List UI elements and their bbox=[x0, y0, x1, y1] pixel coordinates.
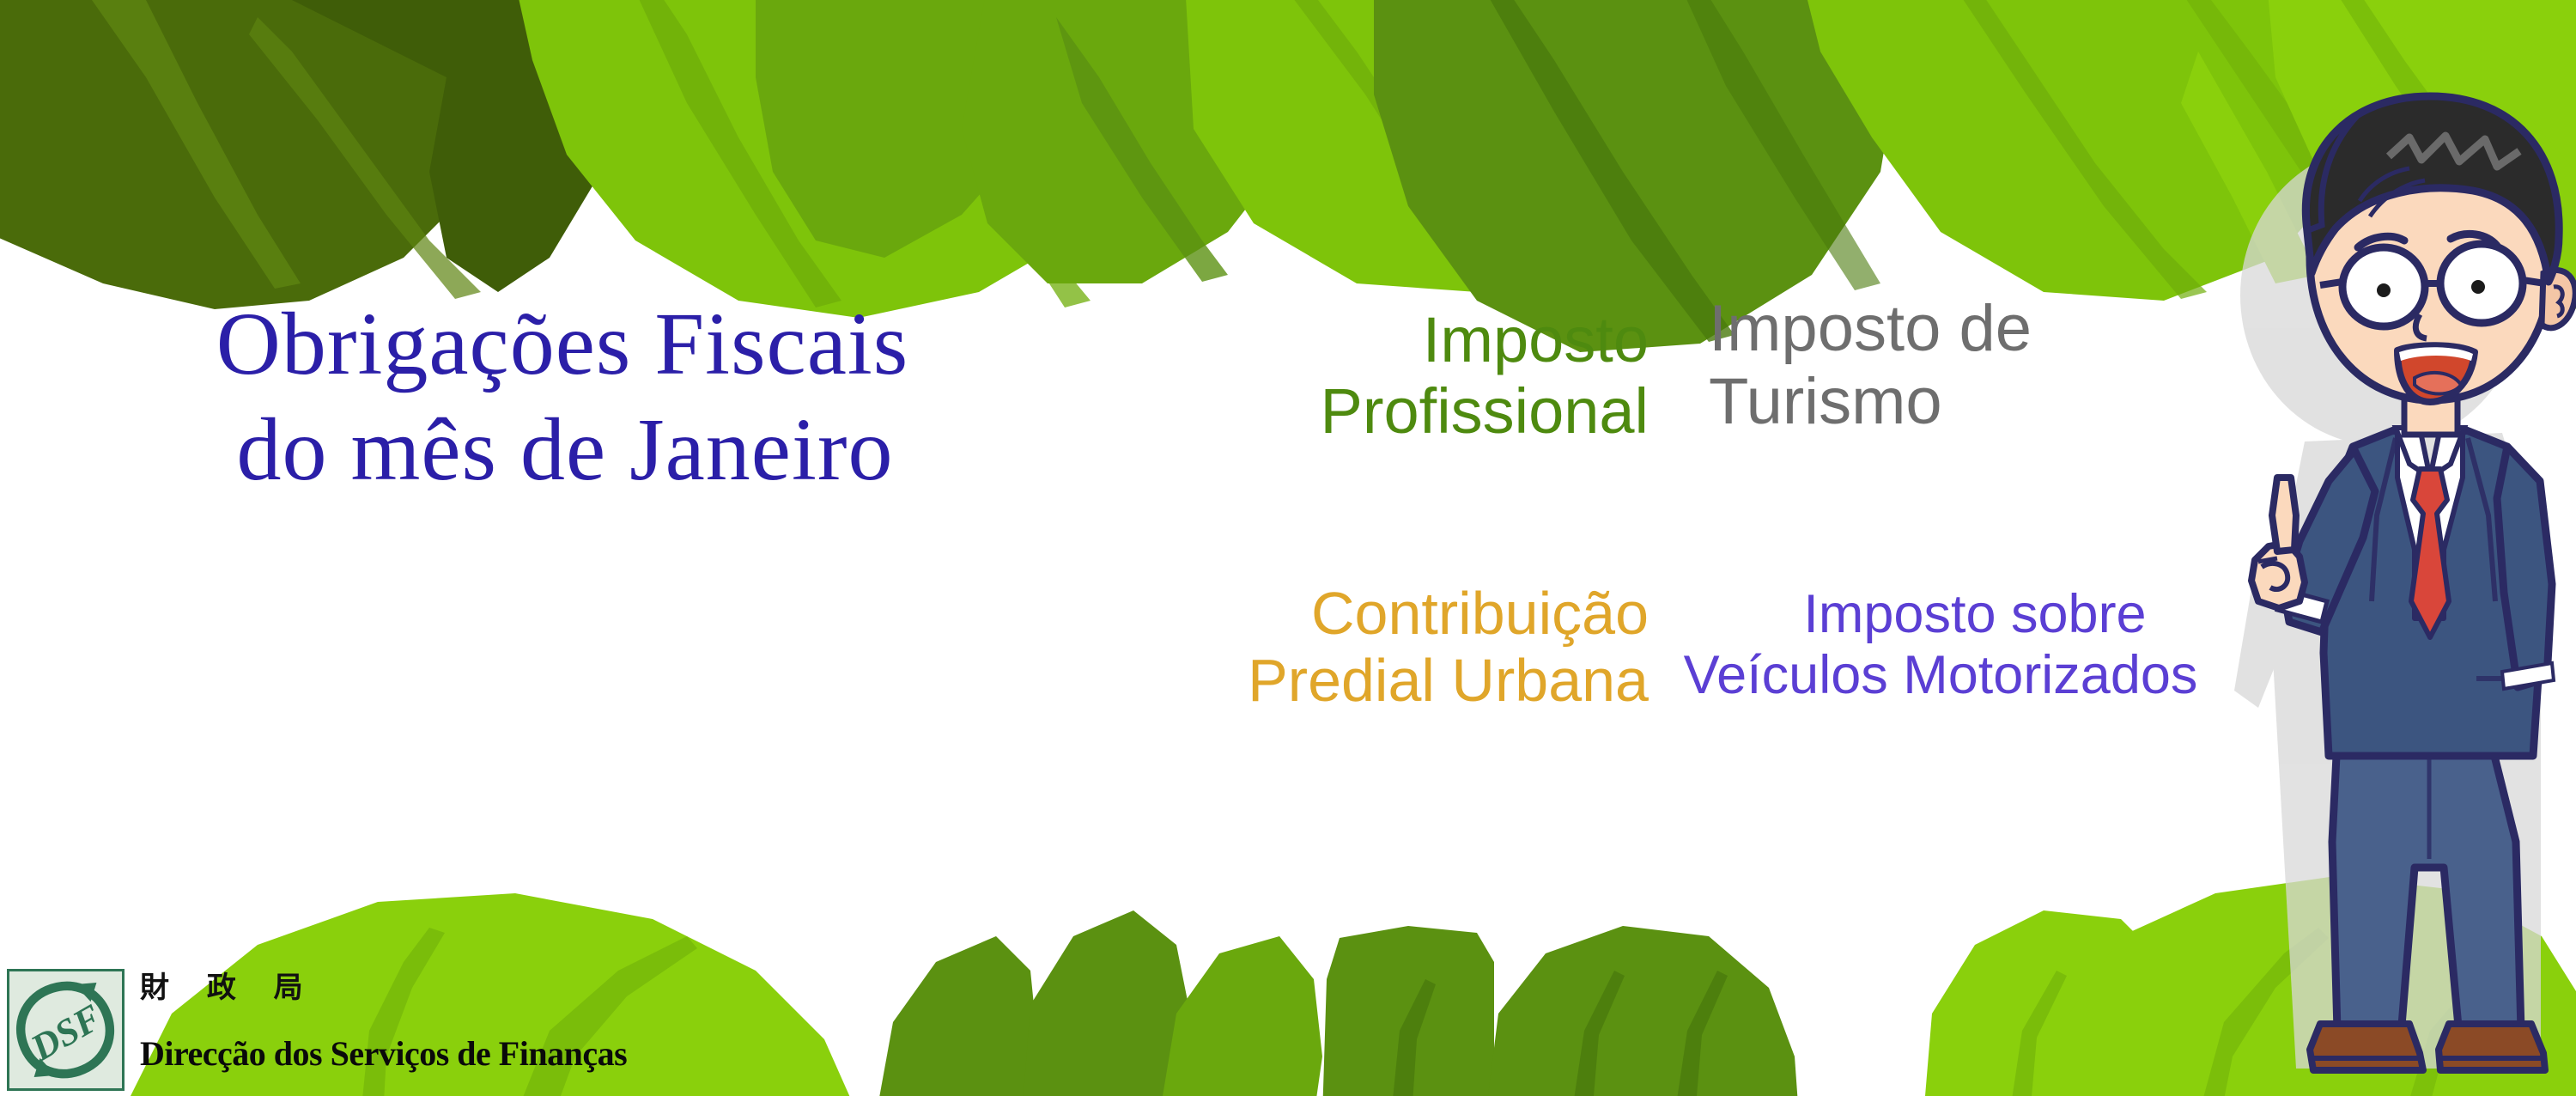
cartoon-businessman-illustration bbox=[0, 0, 2576, 1096]
tax-label-line-2: Veículos Motorizados bbox=[1563, 645, 2318, 706]
dsf-logo: DSF 財 政 局 Direcção dos Serviços de Finan… bbox=[7, 969, 627, 1091]
top-leaf-decoration bbox=[0, 0, 2576, 1096]
poster-canvas: Obrigações Fiscais do mês de Janeiro Imp… bbox=[0, 0, 2576, 1096]
tax-label-line-2: Predial Urbana bbox=[1056, 647, 1649, 714]
dsf-portuguese-name: Direcção dos Serviços de Finanças bbox=[140, 1033, 627, 1074]
page-title-line-1: Obrigações Fiscais bbox=[9, 292, 1116, 398]
tax-label-contribuicao-predial-urbana: Contribuição Predial Urbana bbox=[1056, 580, 1649, 715]
bottom-leaf-decoration bbox=[0, 0, 2576, 1096]
tax-label-line-1: Contribuição bbox=[1056, 580, 1649, 647]
dsf-logo-text: 財 政 局 Direcção dos Serviços de Finanças bbox=[140, 969, 627, 1074]
tax-label-line-1: Imposto bbox=[1116, 305, 1649, 376]
tax-label-line-2: Turismo bbox=[1709, 365, 2241, 438]
dsf-chinese-name: 財 政 局 bbox=[140, 972, 627, 1004]
page-title: Obrigações Fiscais do mês de Janeiro bbox=[9, 292, 1116, 502]
tax-label-line-1: Imposto sobre bbox=[1631, 584, 2318, 645]
tax-label-imposto-profissional: Imposto Profissional bbox=[1116, 305, 1649, 448]
tax-label-line-2: Profissional bbox=[1116, 376, 1649, 448]
page-title-line-2: do mês de Janeiro bbox=[9, 398, 1116, 503]
tax-label-imposto-de-turismo: Imposto de Turismo bbox=[1709, 292, 2241, 438]
dsf-emblem-icon: DSF bbox=[7, 969, 125, 1091]
tax-label-imposto-sobre-veiculos-motorizados: Imposto sobre Veículos Motorizados bbox=[1631, 584, 2318, 705]
tax-label-line-1: Imposto de bbox=[1709, 292, 2241, 365]
